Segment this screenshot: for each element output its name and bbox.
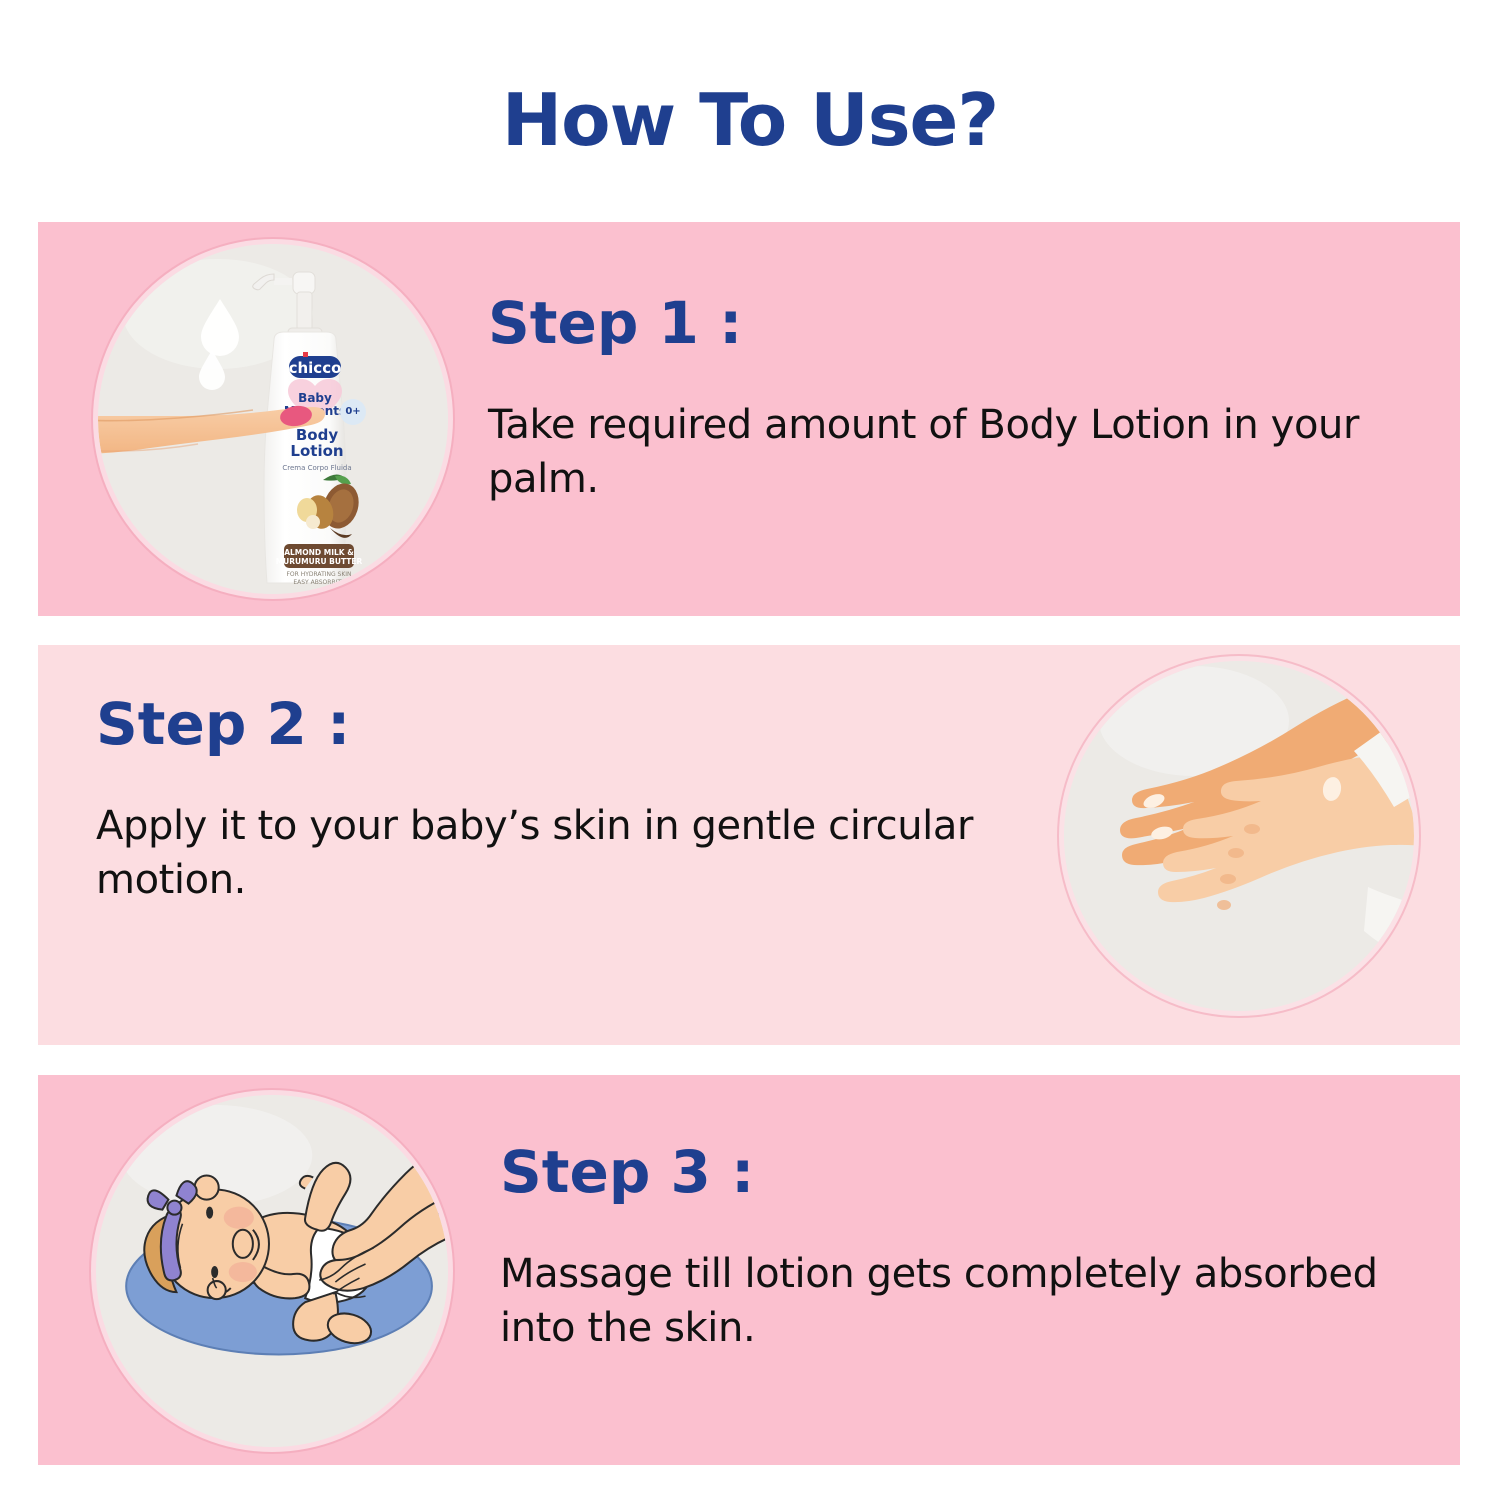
step-3-text: Step 3 : Massage till lotion gets comple… (500, 1143, 1400, 1355)
svg-text:MURUMURU BUTTER: MURUMURU BUTTER (276, 557, 363, 566)
svg-text:Baby: Baby (298, 391, 332, 405)
svg-text:0+: 0+ (345, 406, 360, 417)
step-1-body: Take required amount of Body Lotion in y… (488, 398, 1418, 506)
step-1-label: Step 1 : (488, 294, 1418, 352)
hand-with-lotion-bottle-illustration: chicco Baby Moments 0+ Body Lotion Crema… (98, 244, 448, 594)
baby-massage-illustration (96, 1095, 448, 1447)
step-panel-2: Step 2 : Apply it to your baby’s skin in… (38, 645, 1460, 1045)
step-panel-1: chicco Baby Moments 0+ Body Lotion Crema… (38, 222, 1460, 616)
step-2-label: Step 2 : (96, 695, 1026, 753)
step-1-text: Step 1 : Take required amount of Body Lo… (488, 294, 1418, 506)
step-panel-3: Step 3 : Massage till lotion gets comple… (38, 1075, 1460, 1465)
rubbing-hands-illustration (1064, 661, 1414, 1011)
step-2-text: Step 2 : Apply it to your baby’s skin in… (96, 695, 1026, 907)
svg-text:chicco: chicco (289, 359, 342, 377)
step-3-body: Massage till lotion gets completely abso… (500, 1247, 1400, 1355)
page-title: How To Use? (0, 78, 1500, 162)
svg-text:EASY ABSORBITY: EASY ABSORBITY (293, 579, 345, 586)
step-2-body: Apply it to your baby’s skin in gentle c… (96, 799, 1026, 907)
svg-text:Crema Corpo Fluida: Crema Corpo Fluida (282, 464, 351, 472)
svg-text:ALMOND MILK &: ALMOND MILK & (284, 548, 354, 557)
svg-text:FOR HYDRATING SKIN: FOR HYDRATING SKIN (286, 571, 351, 578)
svg-text:Lotion: Lotion (290, 442, 343, 460)
step-3-label: Step 3 : (500, 1143, 1400, 1201)
